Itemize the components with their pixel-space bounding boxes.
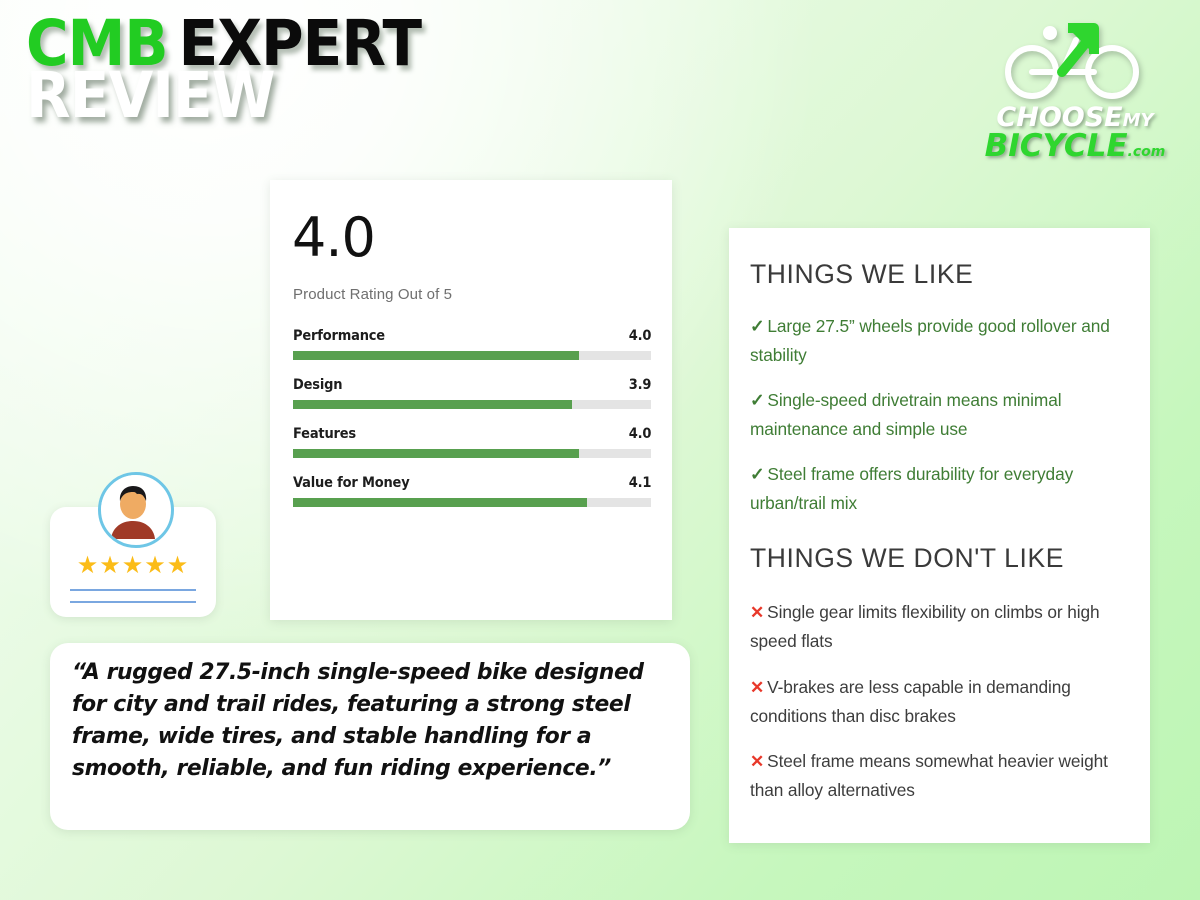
metric-row: Performance4.0 bbox=[293, 328, 651, 360]
metric-label: Value for Money bbox=[293, 475, 410, 491]
dislike-item-text: Steel frame means somewhat heavier weigh… bbox=[750, 751, 1108, 800]
cross-icon: ✕ bbox=[750, 752, 764, 771]
user-avatar-icon bbox=[101, 475, 165, 539]
brand-dotcom: .com bbox=[1128, 144, 1166, 160]
metric-bar-fill bbox=[293, 400, 572, 409]
brand-wordmark-line1: CHOOSEMY bbox=[980, 104, 1170, 131]
review-infographic: CMBEXPERT REVIEW CHOOSEMY BICYCLE.com 4.… bbox=[0, 0, 1200, 900]
like-item: ✓Large 27.5” wheels provide good rollove… bbox=[750, 312, 1129, 369]
metric-head: Design3.9 bbox=[293, 377, 651, 393]
title-review: REVIEW bbox=[26, 59, 275, 132]
like-item-text: Single-speed drivetrain means minimal ma… bbox=[750, 390, 1061, 439]
metric-list: Performance4.0Design3.9Features4.0Value … bbox=[293, 328, 651, 524]
brand-bicycle: BICYCLE bbox=[985, 128, 1128, 164]
like-item-text: Large 27.5” wheels provide good rollover… bbox=[750, 316, 1110, 365]
like-item: ✓Steel frame offers durability for every… bbox=[750, 460, 1129, 517]
metric-bar-track bbox=[293, 449, 651, 458]
metric-score: 4.1 bbox=[628, 475, 651, 491]
metric-bar-track bbox=[293, 400, 651, 409]
metric-row: Design3.9 bbox=[293, 377, 651, 409]
metric-head: Value for Money4.1 bbox=[293, 475, 651, 491]
score-caption: Product Rating Out of 5 bbox=[293, 286, 452, 303]
metric-bar-track bbox=[293, 498, 651, 507]
metric-label: Performance bbox=[293, 328, 385, 344]
metric-row: Features4.0 bbox=[293, 426, 651, 458]
things-we-like-list: ✓Large 27.5” wheels provide good rollove… bbox=[750, 312, 1129, 517]
rating-card: 4.0 Product Rating Out of 5 Performance4… bbox=[270, 180, 672, 620]
brand-logo: CHOOSEMY BICYCLE.com bbox=[980, 20, 1170, 170]
dislike-item-text: Single gear limits flexibility on climbs… bbox=[750, 602, 1099, 651]
like-item: ✓Single-speed drivetrain means minimal m… bbox=[750, 386, 1129, 443]
overall-score: 4.0 bbox=[292, 206, 375, 269]
metric-score: 4.0 bbox=[628, 426, 651, 442]
check-icon: ✓ bbox=[750, 464, 764, 484]
things-we-dont-like-list: ✕Single gear limits flexibility on climb… bbox=[750, 598, 1126, 805]
star-rating: ★★★★★ bbox=[50, 554, 216, 578]
brand-wordmark-line2: BICYCLE.com bbox=[980, 131, 1170, 162]
like-item-text: Steel frame offers durability for everyd… bbox=[750, 464, 1073, 513]
cross-icon: ✕ bbox=[750, 678, 764, 697]
things-we-like-heading: THINGS WE LIKE bbox=[750, 259, 973, 290]
dislike-item: ✕Steel frame means somewhat heavier weig… bbox=[750, 747, 1126, 805]
cross-icon: ✕ bbox=[750, 603, 764, 622]
metric-bar-track bbox=[293, 351, 651, 360]
brand-wordmark: CHOOSEMY BICYCLE.com bbox=[980, 104, 1170, 162]
bicycle-icon bbox=[990, 20, 1160, 102]
metric-label: Features bbox=[293, 426, 356, 442]
things-we-dont-like-heading: THINGS WE DON'T LIKE bbox=[750, 543, 1064, 574]
dislike-item: ✕V-brakes are less capable in demanding … bbox=[750, 673, 1126, 731]
quote-text: “A rugged 27.5-inch single-speed bike de… bbox=[72, 657, 654, 785]
metric-label: Design bbox=[293, 377, 342, 393]
verdict-panel: THINGS WE LIKE ✓Large 27.5” wheels provi… bbox=[729, 228, 1150, 843]
title-row-2: REVIEW bbox=[26, 70, 421, 122]
metric-bar-fill bbox=[293, 351, 579, 360]
header-title: CMBEXPERT REVIEW bbox=[26, 18, 455, 121]
metric-score: 3.9 bbox=[628, 377, 651, 393]
check-icon: ✓ bbox=[750, 390, 764, 410]
check-icon: ✓ bbox=[750, 316, 764, 336]
quote-card: “A rugged 27.5-inch single-speed bike de… bbox=[50, 643, 690, 830]
metric-bar-fill bbox=[293, 449, 579, 458]
metric-head: Performance4.0 bbox=[293, 328, 651, 344]
metric-head: Features4.0 bbox=[293, 426, 651, 442]
metric-row: Value for Money4.1 bbox=[293, 475, 651, 507]
metric-score: 4.0 bbox=[628, 328, 651, 344]
metric-bar-fill bbox=[293, 498, 587, 507]
avatar bbox=[98, 472, 174, 548]
dislike-item-text: V-brakes are less capable in demanding c… bbox=[750, 677, 1071, 726]
badge-text-line-2 bbox=[70, 601, 196, 603]
dislike-item: ✕Single gear limits flexibility on climb… bbox=[750, 598, 1126, 656]
badge-text-line-1 bbox=[70, 589, 196, 591]
